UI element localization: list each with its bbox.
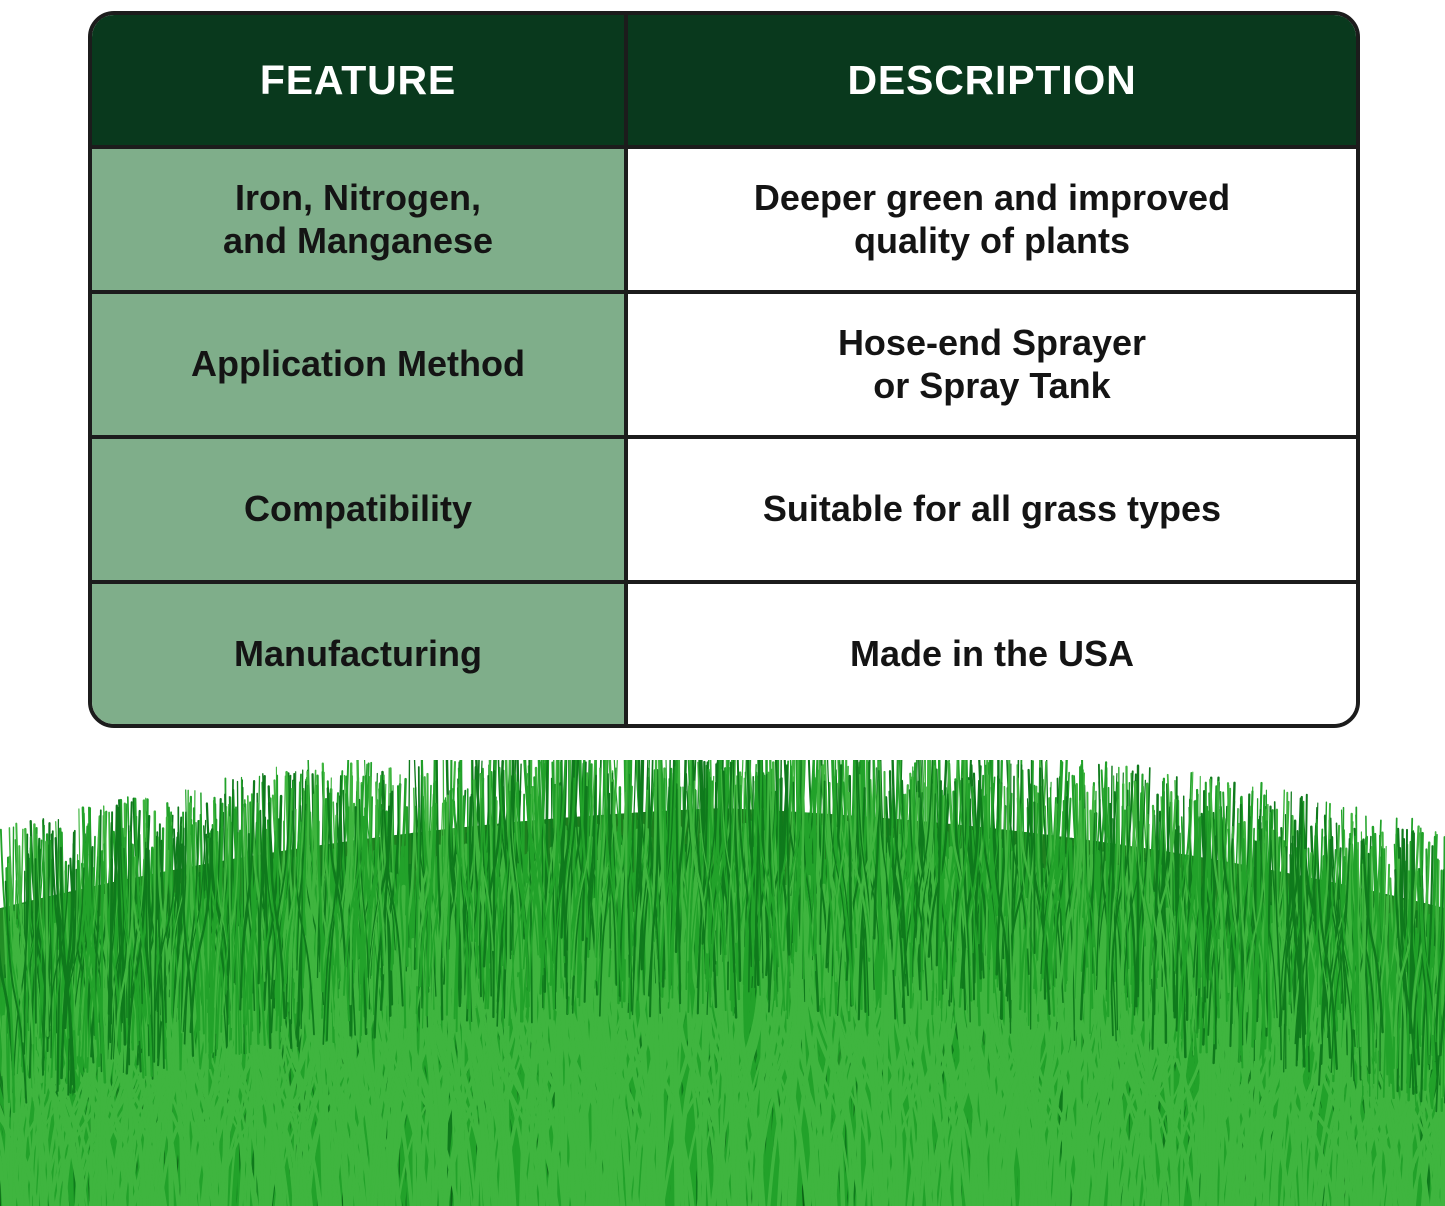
table-row: Application Method Hose-end Sprayer or S… [92,294,1356,439]
column-header-description: DESCRIPTION [628,15,1356,149]
table-row: Compatibility Suitable for all grass typ… [92,439,1356,584]
cell-text-line: Deeper green and improved [646,177,1338,219]
cell-text-line: Manufacturing [110,633,606,675]
cell-feature-compatibility: Compatibility [92,439,628,584]
cell-text-line: Suitable for all grass types [646,488,1338,530]
cell-description-manufacturing: Made in the USA [628,584,1356,724]
cell-description-application-method: Hose-end Sprayer or Spray Tank [628,294,1356,439]
grass-lawn-photo [0,760,1445,1206]
cell-text-line: Made in the USA [646,633,1338,675]
cell-description-nutrients: Deeper green and improved quality of pla… [628,149,1356,294]
cell-feature-application-method: Application Method [92,294,628,439]
cell-feature-manufacturing: Manufacturing [92,584,628,724]
feature-description-table: FEATURE DESCRIPTION Iron, Nitrogen, and … [88,11,1360,728]
product-feature-infographic: FEATURE DESCRIPTION Iron, Nitrogen, and … [0,0,1445,1206]
cell-text-line: Compatibility [110,488,606,530]
table-body: Iron, Nitrogen, and Manganese Deeper gre… [92,149,1356,724]
table-header: FEATURE DESCRIPTION [92,15,1356,149]
cell-text-line: Iron, Nitrogen, [110,177,606,219]
grass-illustration [0,760,1445,1206]
feature-table-container: FEATURE DESCRIPTION Iron, Nitrogen, and … [88,11,1360,711]
cell-text-line: Hose-end Sprayer [646,322,1338,364]
cell-text-line: Application Method [110,343,606,385]
cell-description-compatibility: Suitable for all grass types [628,439,1356,584]
cell-text-line: or Spray Tank [646,365,1338,407]
cell-feature-nutrients: Iron, Nitrogen, and Manganese [92,149,628,294]
cell-text-line: quality of plants [646,220,1338,262]
table-header-row: FEATURE DESCRIPTION [92,15,1356,149]
table-row: Manufacturing Made in the USA [92,584,1356,724]
table-row: Iron, Nitrogen, and Manganese Deeper gre… [92,149,1356,294]
column-header-feature: FEATURE [92,15,628,149]
cell-text-line: and Manganese [110,220,606,262]
